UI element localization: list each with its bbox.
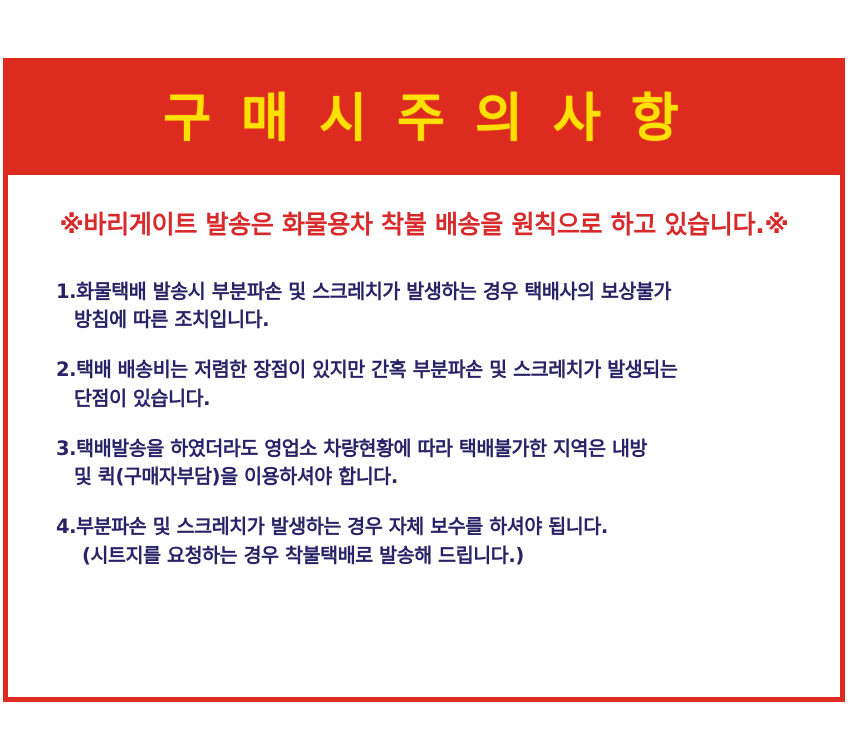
page-title: 구 매 시 주 의 사 항 xyxy=(163,93,685,145)
list-item-line-1: 1.화물택배 발송시 부분파손 및 스크레치가 발생하는 경우 택배사의 보상불… xyxy=(56,278,814,306)
list-item: 1.화물택배 발송시 부분파손 및 스크레치가 발생하는 경우 택배사의 보상불… xyxy=(56,278,814,335)
list-item-line-2: 및 퀵(구매자부담)을 이용하셔야 합니다. xyxy=(56,463,814,491)
list-item: 4.부분파손 및 스크레치가 발생하는 경우 자체 보수를 하셔야 됩니다. (… xyxy=(56,513,814,570)
list-item-line-1: 4.부분파손 및 스크레치가 발생하는 경우 자체 보수를 하셔야 됩니다. xyxy=(56,513,814,541)
notice-body: ※바리게이트 발송은 화물용차 착불 배송을 원칙으로 하고 있습니다.※ 1.… xyxy=(8,175,840,697)
notice-header-banner: 구 매 시 주 의 사 항 xyxy=(8,63,840,175)
shipping-policy-subtitle: ※바리게이트 발송은 화물용차 착불 배송을 원칙으로 하고 있습니다.※ xyxy=(34,211,814,240)
list-item-line-2: 단점이 있습니다. xyxy=(56,385,814,413)
list-item: 3.택배발송을 하였더라도 영업소 차량현황에 따라 택배불가한 지역은 내방 … xyxy=(56,435,814,492)
notice-list: 1.화물택배 발송시 부분파손 및 스크레치가 발생하는 경우 택배사의 보상불… xyxy=(34,278,814,570)
notice-card: 구 매 시 주 의 사 항 ※바리게이트 발송은 화물용차 착불 배송을 원칙으… xyxy=(3,58,845,702)
list-item-line-1: 3.택배발송을 하였더라도 영업소 차량현황에 따라 택배불가한 지역은 내방 xyxy=(56,435,814,463)
list-item-line-2: 방침에 따른 조치입니다. xyxy=(56,306,814,334)
list-item-line-1: 2.택배 배송비는 저렴한 장점이 있지만 간혹 부분파손 및 스크레치가 발생… xyxy=(56,356,814,384)
list-item: 2.택배 배송비는 저렴한 장점이 있지만 간혹 부분파손 및 스크레치가 발생… xyxy=(56,356,814,413)
list-item-line-2: (시트지를 요청하는 경우 착불택배로 발송해 드립니다.) xyxy=(56,542,814,570)
